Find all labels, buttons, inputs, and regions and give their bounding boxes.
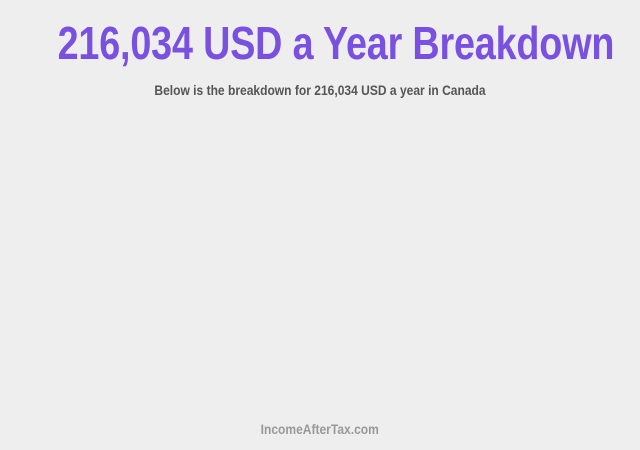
chart-plot-region bbox=[0, 99, 640, 421]
chart-area bbox=[0, 99, 640, 421]
income-breakdown-page: 216,034 USD a Year Breakdown Below is th… bbox=[0, 0, 640, 450]
page-footer: IncomeAfterTax.com bbox=[0, 421, 640, 450]
page-subtitle: Below is the breakdown for 216,034 USD a… bbox=[45, 68, 595, 99]
page-title: 216,034 USD a Year Breakdown bbox=[58, 18, 583, 68]
page-header: 216,034 USD a Year Breakdown Below is th… bbox=[0, 0, 640, 99]
footer-watermark: IncomeAfterTax.com bbox=[261, 421, 379, 437]
